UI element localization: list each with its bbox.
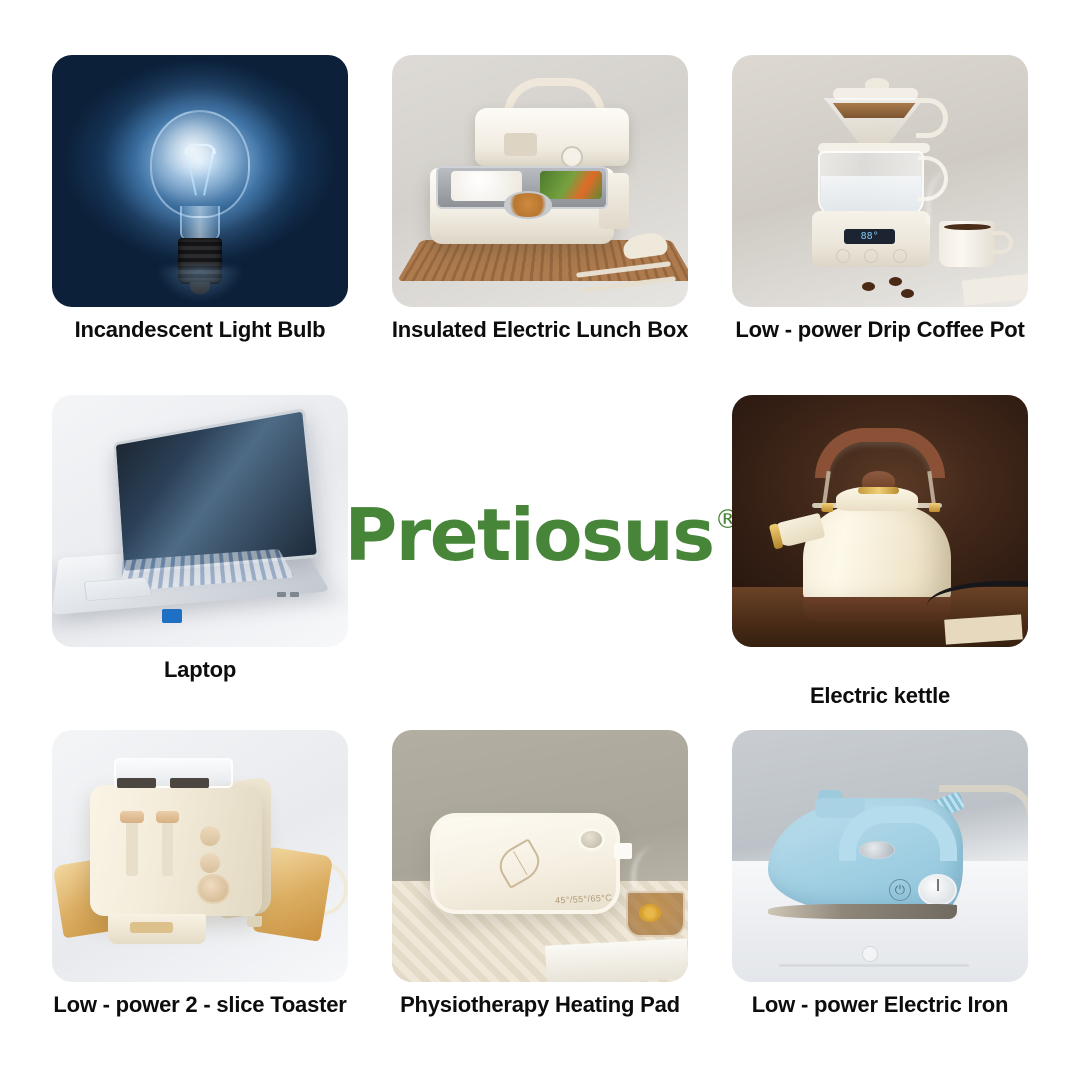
product-label-laptop: Laptop	[32, 657, 368, 683]
soup-bowl	[504, 191, 551, 219]
power-button-icon	[561, 146, 583, 168]
product-image-insulated-electric-lunch-box[interactable]	[392, 55, 688, 307]
product-label-low-power-electric-iron: Low - power Electric Iron	[692, 992, 1068, 1018]
lever-handle[interactable]	[156, 811, 180, 824]
base-control-buttons[interactable]	[836, 249, 907, 263]
product-image-low-power-electric-iron[interactable]: ⏻	[732, 730, 1028, 982]
lever-handle[interactable]	[120, 811, 144, 824]
product-cell-low-power-2-slice-toaster[interactable]: Low - power 2 - slice Toaster	[52, 730, 348, 1030]
carafe-water	[821, 176, 922, 216]
laptop-ports	[277, 592, 318, 597]
toaster-foot	[247, 916, 262, 926]
steam-selector[interactable]	[859, 841, 895, 859]
mug-handle	[990, 231, 1014, 254]
processor-sticker	[162, 609, 182, 623]
temperature-display: 88°	[844, 229, 894, 244]
coffee-bean	[889, 277, 902, 286]
kettle-body	[803, 506, 951, 607]
product-image-physiotherapy-heating-pad[interactable]: 45°/55°/65°C	[392, 730, 688, 982]
crumb-tray[interactable]	[108, 914, 206, 944]
bagel-button-icon[interactable]	[200, 853, 220, 873]
kettle-lid-knob	[862, 471, 895, 491]
bulb-reflection	[157, 267, 243, 301]
usb-port-icon	[277, 592, 286, 597]
shirt-fold	[779, 964, 968, 967]
lunch-box-upper-tier	[475, 108, 629, 166]
product-label-low-power-drip-coffee-pot: Low - power Drip Coffee Pot	[692, 317, 1068, 343]
mode-button-icon[interactable]	[864, 249, 878, 263]
gold-accent	[822, 503, 833, 512]
product-cell-electric-kettle-low-power[interactable]: Electric kettle (low - power)	[732, 395, 1028, 705]
coffee-bean	[901, 289, 914, 298]
toaster-body	[90, 785, 262, 916]
reheat-button-icon[interactable]	[200, 826, 220, 846]
paper-sheet	[944, 614, 1023, 644]
product-cell-insulated-electric-lunch-box[interactable]: Insulated Electric Lunch Box	[392, 55, 688, 355]
coffee-grounds	[833, 103, 916, 118]
product-cell-incandescent-light-bulb[interactable]: Incandescent Light Bulb	[52, 55, 348, 355]
dripper-handle	[916, 98, 949, 138]
product-image-electric-kettle-low-power[interactable]	[732, 395, 1028, 647]
temperature-dial[interactable]	[918, 874, 956, 907]
gold-accent	[929, 503, 940, 512]
product-image-incandescent-light-bulb[interactable]	[52, 55, 348, 307]
coffee-bean	[862, 282, 875, 291]
paper-sheet	[962, 273, 1028, 305]
shirt-button	[862, 946, 878, 962]
browning-dial[interactable]	[197, 874, 230, 904]
product-cell-low-power-electric-iron[interactable]: ⏻ Low - power Electric Iron	[732, 730, 1028, 1030]
product-cell-physiotherapy-heating-pad[interactable]: 45°/55°/65°C Physiotherapy Heating Pad	[392, 730, 688, 1030]
open-book	[545, 938, 688, 982]
product-cell-laptop[interactable]: Laptop	[52, 395, 348, 695]
brand-logo: Pretiosus®	[372, 480, 712, 590]
lunch-box-latch	[504, 133, 537, 156]
temperature-value: 88°	[861, 231, 879, 242]
fabric-tab	[614, 843, 632, 858]
product-image-low-power-drip-coffee-pot[interactable]: 88°	[732, 55, 1028, 307]
soleplate	[768, 904, 957, 919]
menu-button-icon[interactable]	[893, 249, 907, 263]
product-label-incandescent-light-bulb: Incandescent Light Bulb	[32, 317, 368, 343]
product-label-insulated-electric-lunch-box: Insulated Electric Lunch Box	[352, 317, 728, 343]
vegetable-compartment	[540, 171, 602, 199]
product-image-low-power-2-slice-toaster[interactable]	[52, 730, 348, 982]
product-cell-low-power-drip-coffee-pot[interactable]: 88° Low - power Drip Coffee Pot	[732, 55, 1028, 355]
charging-port	[578, 828, 605, 851]
bread-slot	[170, 778, 208, 788]
power-button-icon[interactable]	[836, 249, 850, 263]
product-label-low-power-2-slice-toaster: Low - power 2 - slice Toaster	[12, 992, 388, 1018]
brand-name: Pretiosus	[344, 493, 713, 577]
product-label-physiotherapy-heating-pad: Physiotherapy Heating Pad	[352, 992, 728, 1018]
product-grid-poster: Incandescent Light Bulb Insulated Electr…	[0, 0, 1080, 1080]
laptop-screen	[114, 408, 321, 574]
coffee-mug	[939, 221, 995, 266]
bread-slot	[117, 778, 155, 788]
label-line-1: Electric kettle	[810, 683, 950, 708]
power-icon[interactable]: ⏻	[889, 879, 911, 901]
usb-port-icon	[290, 592, 299, 597]
product-image-laptop[interactable]	[52, 395, 348, 647]
